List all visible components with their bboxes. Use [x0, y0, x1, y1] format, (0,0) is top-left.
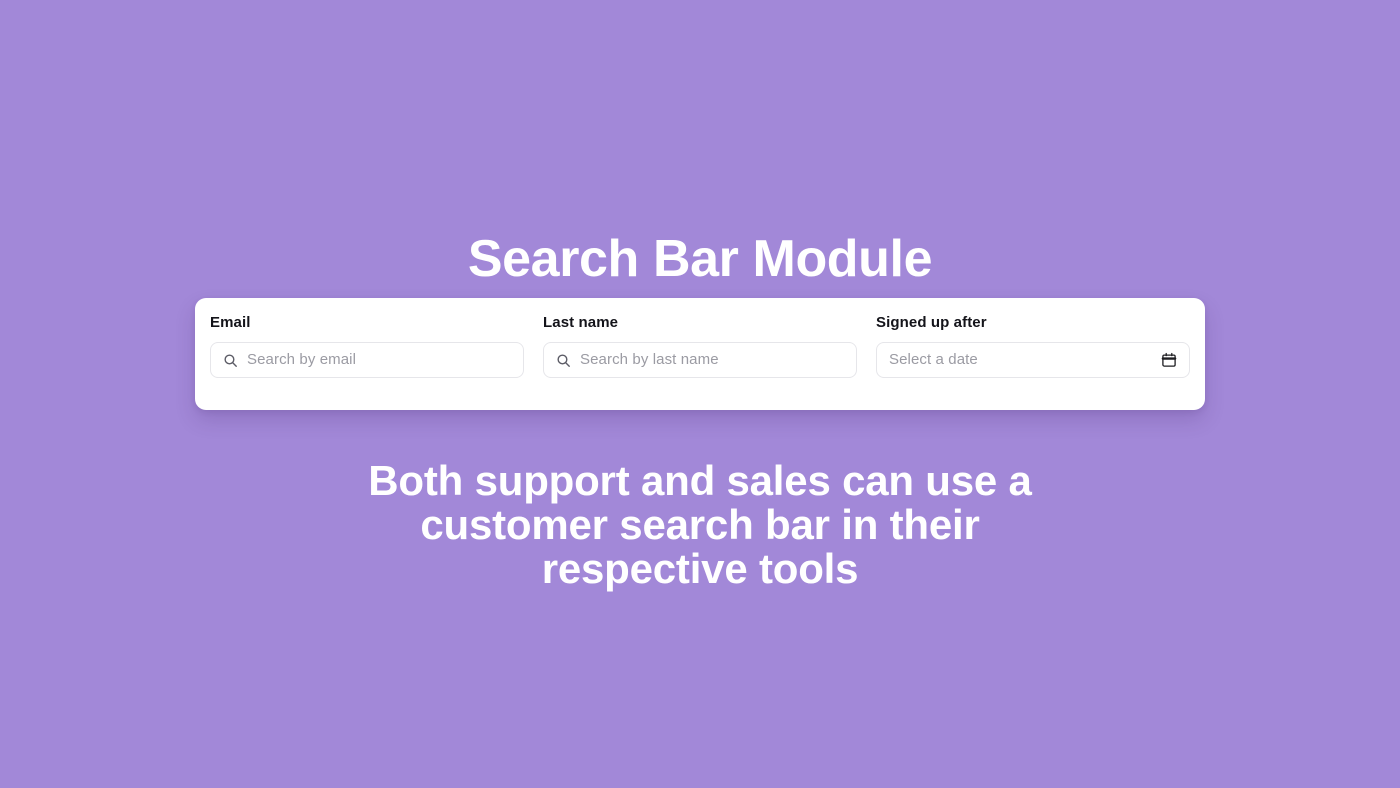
field-last-name: Last name Search by last name — [543, 314, 857, 378]
search-icon — [556, 353, 571, 368]
field-label-signed-up-after: Signed up after — [876, 314, 1190, 332]
field-label-last-name: Last name — [543, 314, 857, 332]
date-input-signed-up-after[interactable]: Select a date — [876, 342, 1190, 378]
search-bar-module-panel: Email Search by email Last name — [195, 298, 1205, 410]
search-input-last-name[interactable]: Search by last name — [543, 342, 857, 378]
search-input-email-placeholder: Search by email — [247, 351, 511, 369]
calendar-icon[interactable] — [1161, 352, 1177, 368]
search-input-last-name-placeholder: Search by last name — [580, 351, 844, 369]
slide-caption: Both support and sales can use a custome… — [0, 459, 1400, 591]
slide-canvas: Search Bar Module Email Search by email — [0, 0, 1400, 788]
search-input-email[interactable]: Search by email — [210, 342, 524, 378]
field-label-email: Email — [210, 314, 524, 332]
search-icon — [223, 353, 238, 368]
field-email: Email Search by email — [210, 314, 524, 378]
field-signed-up-after: Signed up after Select a date — [876, 314, 1190, 378]
page-title: Search Bar Module — [0, 226, 1400, 292]
date-input-placeholder: Select a date — [889, 351, 1152, 369]
search-fields-row: Email Search by email Last name — [210, 314, 1190, 378]
